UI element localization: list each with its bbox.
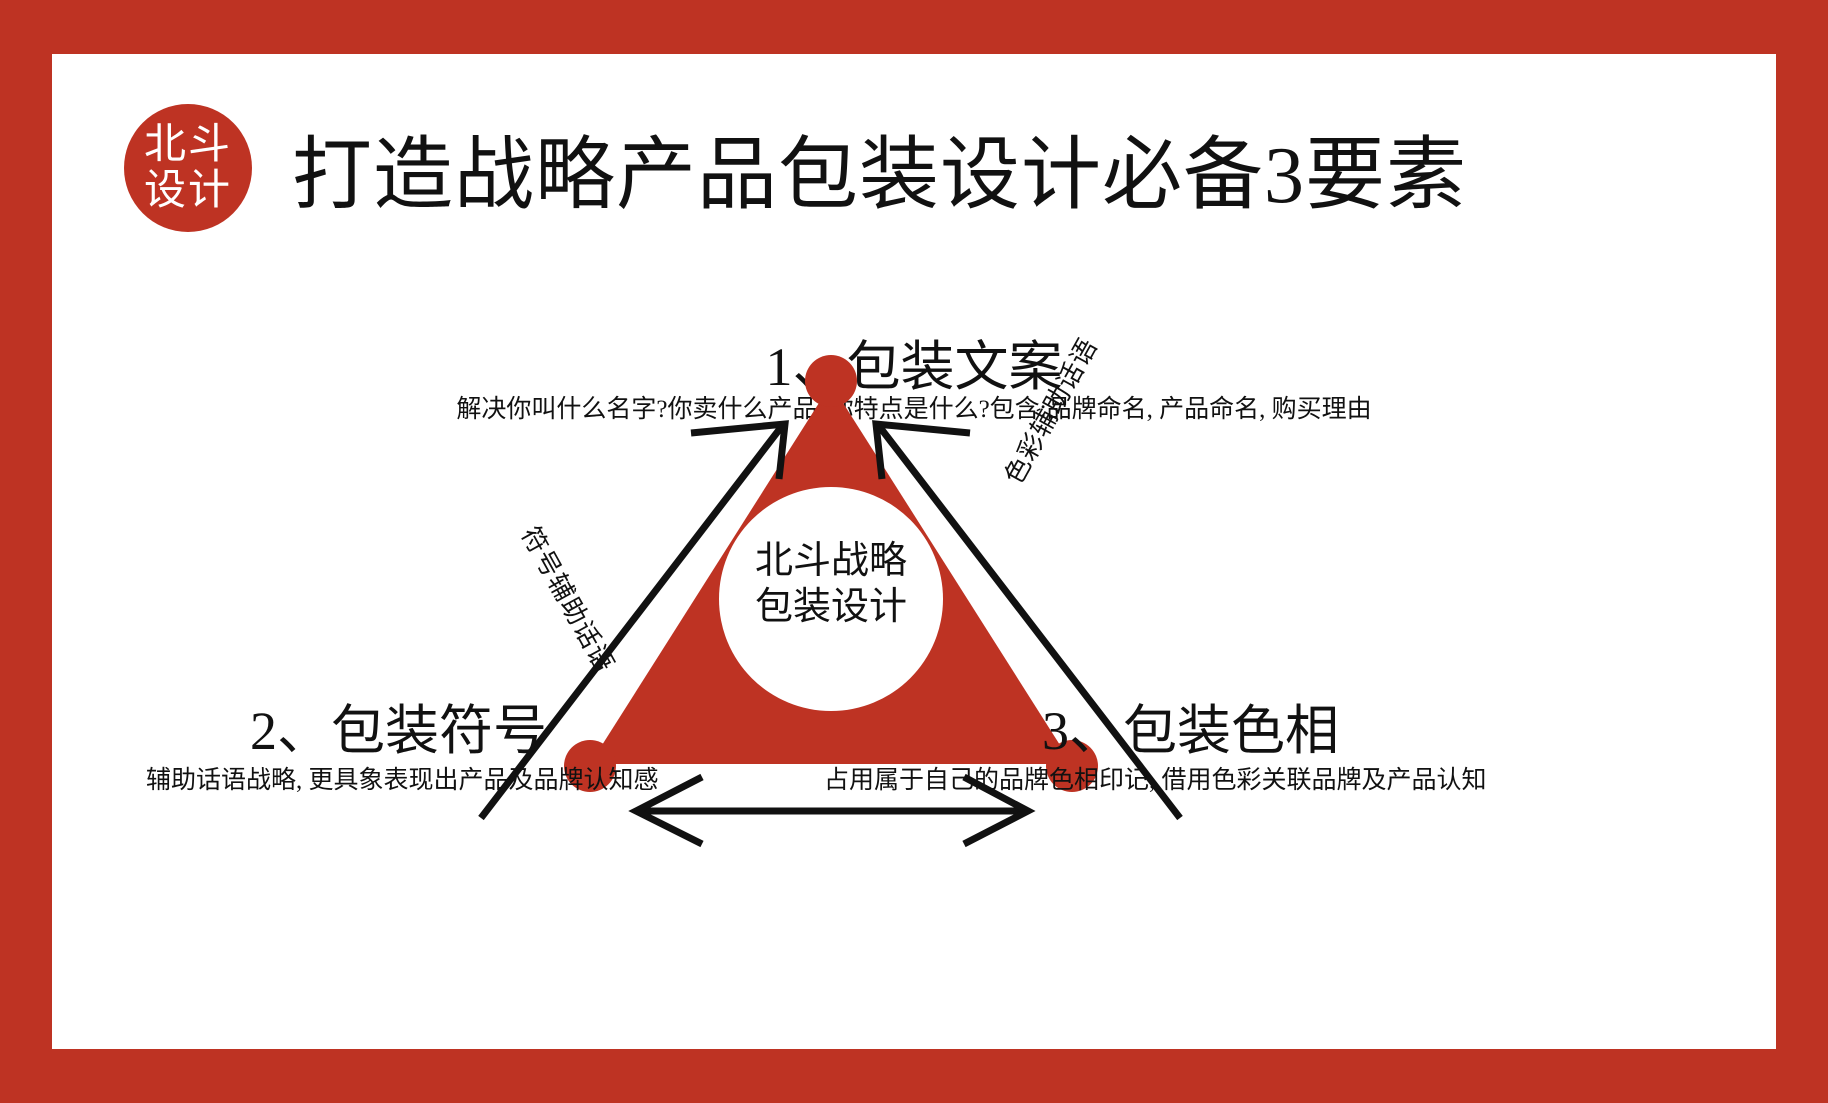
- center-label-line2: 包装设计: [714, 584, 948, 630]
- node-bottom-right-description: 占用属于自己的品牌色相印记, 借用色彩关联品牌及产品认知: [824, 760, 1487, 796]
- center-circle-label: 北斗战略 包装设计: [714, 538, 948, 631]
- node-bottom-right-title: 3、包装色相: [1042, 686, 1339, 765]
- node-bottom-left-title: 2、包装符号: [250, 686, 547, 765]
- poster-frame: 北斗 设计 打造战略产品包装设计必备3要素 1、包装文案 解决你叫什么名字?你卖…: [0, 0, 1828, 1103]
- poster-canvas: 北斗 设计 打造战略产品包装设计必备3要素 1、包装文案 解决你叫什么名字?你卖…: [52, 54, 1776, 1049]
- center-label-line1: 北斗战略: [714, 538, 948, 584]
- vertex-dot-top: [805, 355, 857, 407]
- node-bottom-left-description: 辅助话语战略, 更具象表现出产品及品牌认知感: [146, 760, 659, 796]
